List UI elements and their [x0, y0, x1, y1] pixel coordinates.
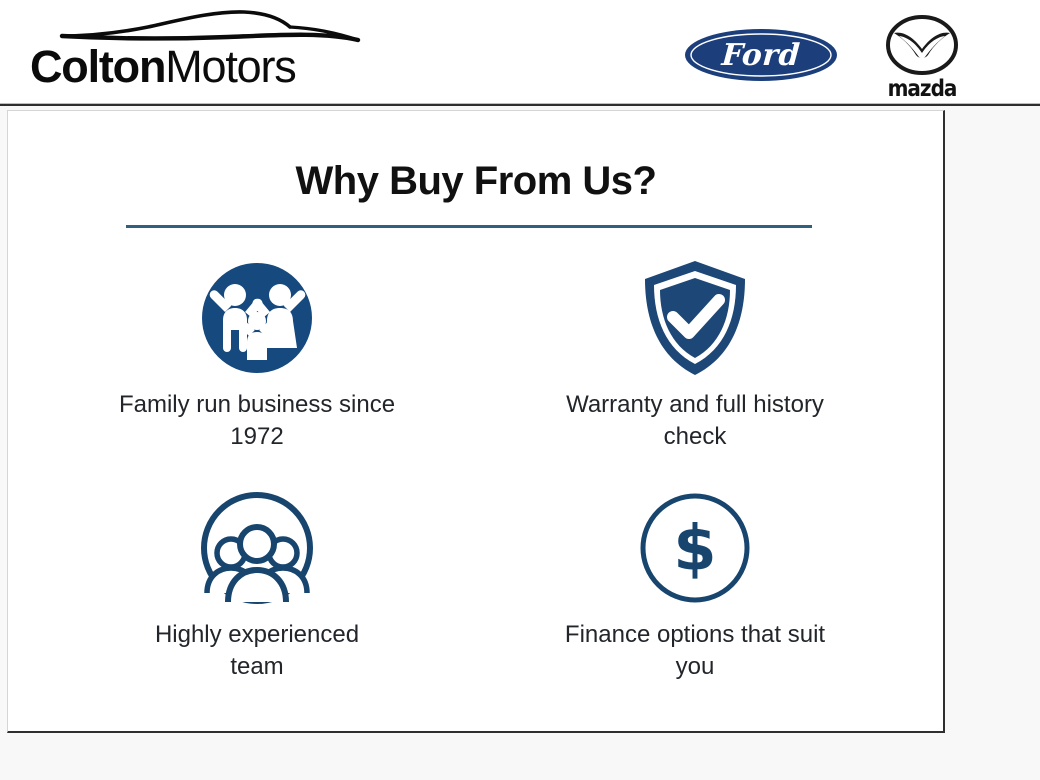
ford-wordmark: Ford — [681, 27, 841, 83]
feature-label: Highly experienced team — [97, 619, 417, 683]
feature-grid: Family run business since 1972 Warran — [38, 259, 914, 683]
title-divider — [126, 225, 812, 228]
feature-warranty: Warranty and full history check — [476, 259, 914, 453]
dealer-name-bold: Colton — [30, 41, 165, 92]
header-divider — [0, 103, 1040, 106]
why-buy-panel: Why Buy From Us? — [7, 110, 945, 733]
feature-label-line2: 1972 — [230, 423, 283, 450]
feature-label: Family run business since 1972 — [97, 389, 417, 453]
mazda-wings-icon — [872, 14, 972, 76]
mazda-logo[interactable]: mazda — [872, 14, 972, 100]
feature-label-line1: Highly experienced — [155, 621, 359, 648]
feature-label-line2: team — [230, 653, 283, 680]
dealer-logo[interactable]: ColtonMotors — [28, 6, 388, 98]
dealer-name-light: Motors — [165, 41, 295, 92]
team-group-icon — [198, 489, 316, 607]
feature-family: Family run business since 1972 — [38, 259, 476, 453]
page-title: Why Buy From Us? — [8, 159, 944, 204]
feature-finance: $ Finance options that suit you — [476, 489, 914, 683]
feature-label-line2: check — [664, 423, 727, 450]
dealer-wordmark: ColtonMotors — [30, 44, 296, 89]
page-header: ColtonMotors Ford mazda — [0, 0, 1040, 104]
slide-canvas: ColtonMotors Ford mazda Why Buy From Us? — [0, 0, 1040, 780]
feature-label-line2: you — [676, 653, 715, 680]
feature-label-line1: Warranty and full history — [566, 391, 824, 418]
mazda-wordmark: mazda — [872, 74, 972, 102]
ford-logo[interactable]: Ford — [683, 27, 839, 83]
svg-text:$: $ — [673, 511, 716, 584]
feature-team: Highly experienced team — [38, 489, 476, 683]
feature-label-line1: Family run business since — [119, 391, 395, 418]
shield-check-icon — [636, 259, 754, 377]
feature-label: Finance options that suit you — [525, 619, 865, 683]
dollar-circle-icon: $ — [636, 489, 754, 607]
feature-label-line1: Finance options that suit — [565, 621, 825, 648]
feature-label: Warranty and full history check — [525, 389, 865, 453]
family-icon — [198, 259, 316, 377]
